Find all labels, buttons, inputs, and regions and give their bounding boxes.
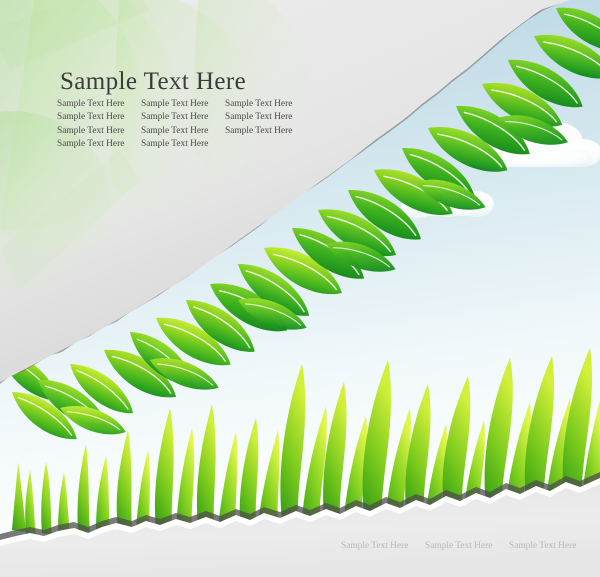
body-text-row: Sample Text HereSample Text Here (57, 138, 317, 151)
body-text-item: Sample Text Here (225, 98, 309, 111)
body-text-item: Sample Text Here (141, 98, 225, 111)
body-text-item: Sample Text Here (141, 125, 225, 138)
body-text-row: Sample Text HereSample Text HereSample T… (57, 111, 317, 124)
footer-text-block: Sample Text HereSample Text HereSample T… (341, 541, 593, 551)
body-text-item: Sample Text Here (225, 111, 309, 124)
body-text-row: Sample Text HereSample Text HereSample T… (57, 125, 317, 138)
page-title: Sample Text Here (60, 68, 246, 96)
body-text-item: Sample Text Here (57, 138, 141, 151)
body-text-item: Sample Text Here (57, 111, 141, 124)
footer-text-item: Sample Text Here (425, 541, 509, 551)
body-text-item: Sample Text Here (57, 98, 141, 111)
footer-text-item: Sample Text Here (341, 541, 425, 551)
body-text-row: Sample Text HereSample Text HereSample T… (57, 98, 317, 111)
body-text-item: Sample Text Here (141, 138, 225, 151)
footer-text-item: Sample Text Here (509, 541, 593, 551)
poster-canvas: Sample Text Here Sample Text HereSample … (0, 0, 600, 577)
body-text-item: Sample Text Here (225, 125, 309, 138)
body-text-block: Sample Text HereSample Text HereSample T… (57, 98, 317, 151)
body-text-item: Sample Text Here (57, 125, 141, 138)
body-text-item: Sample Text Here (141, 111, 225, 124)
